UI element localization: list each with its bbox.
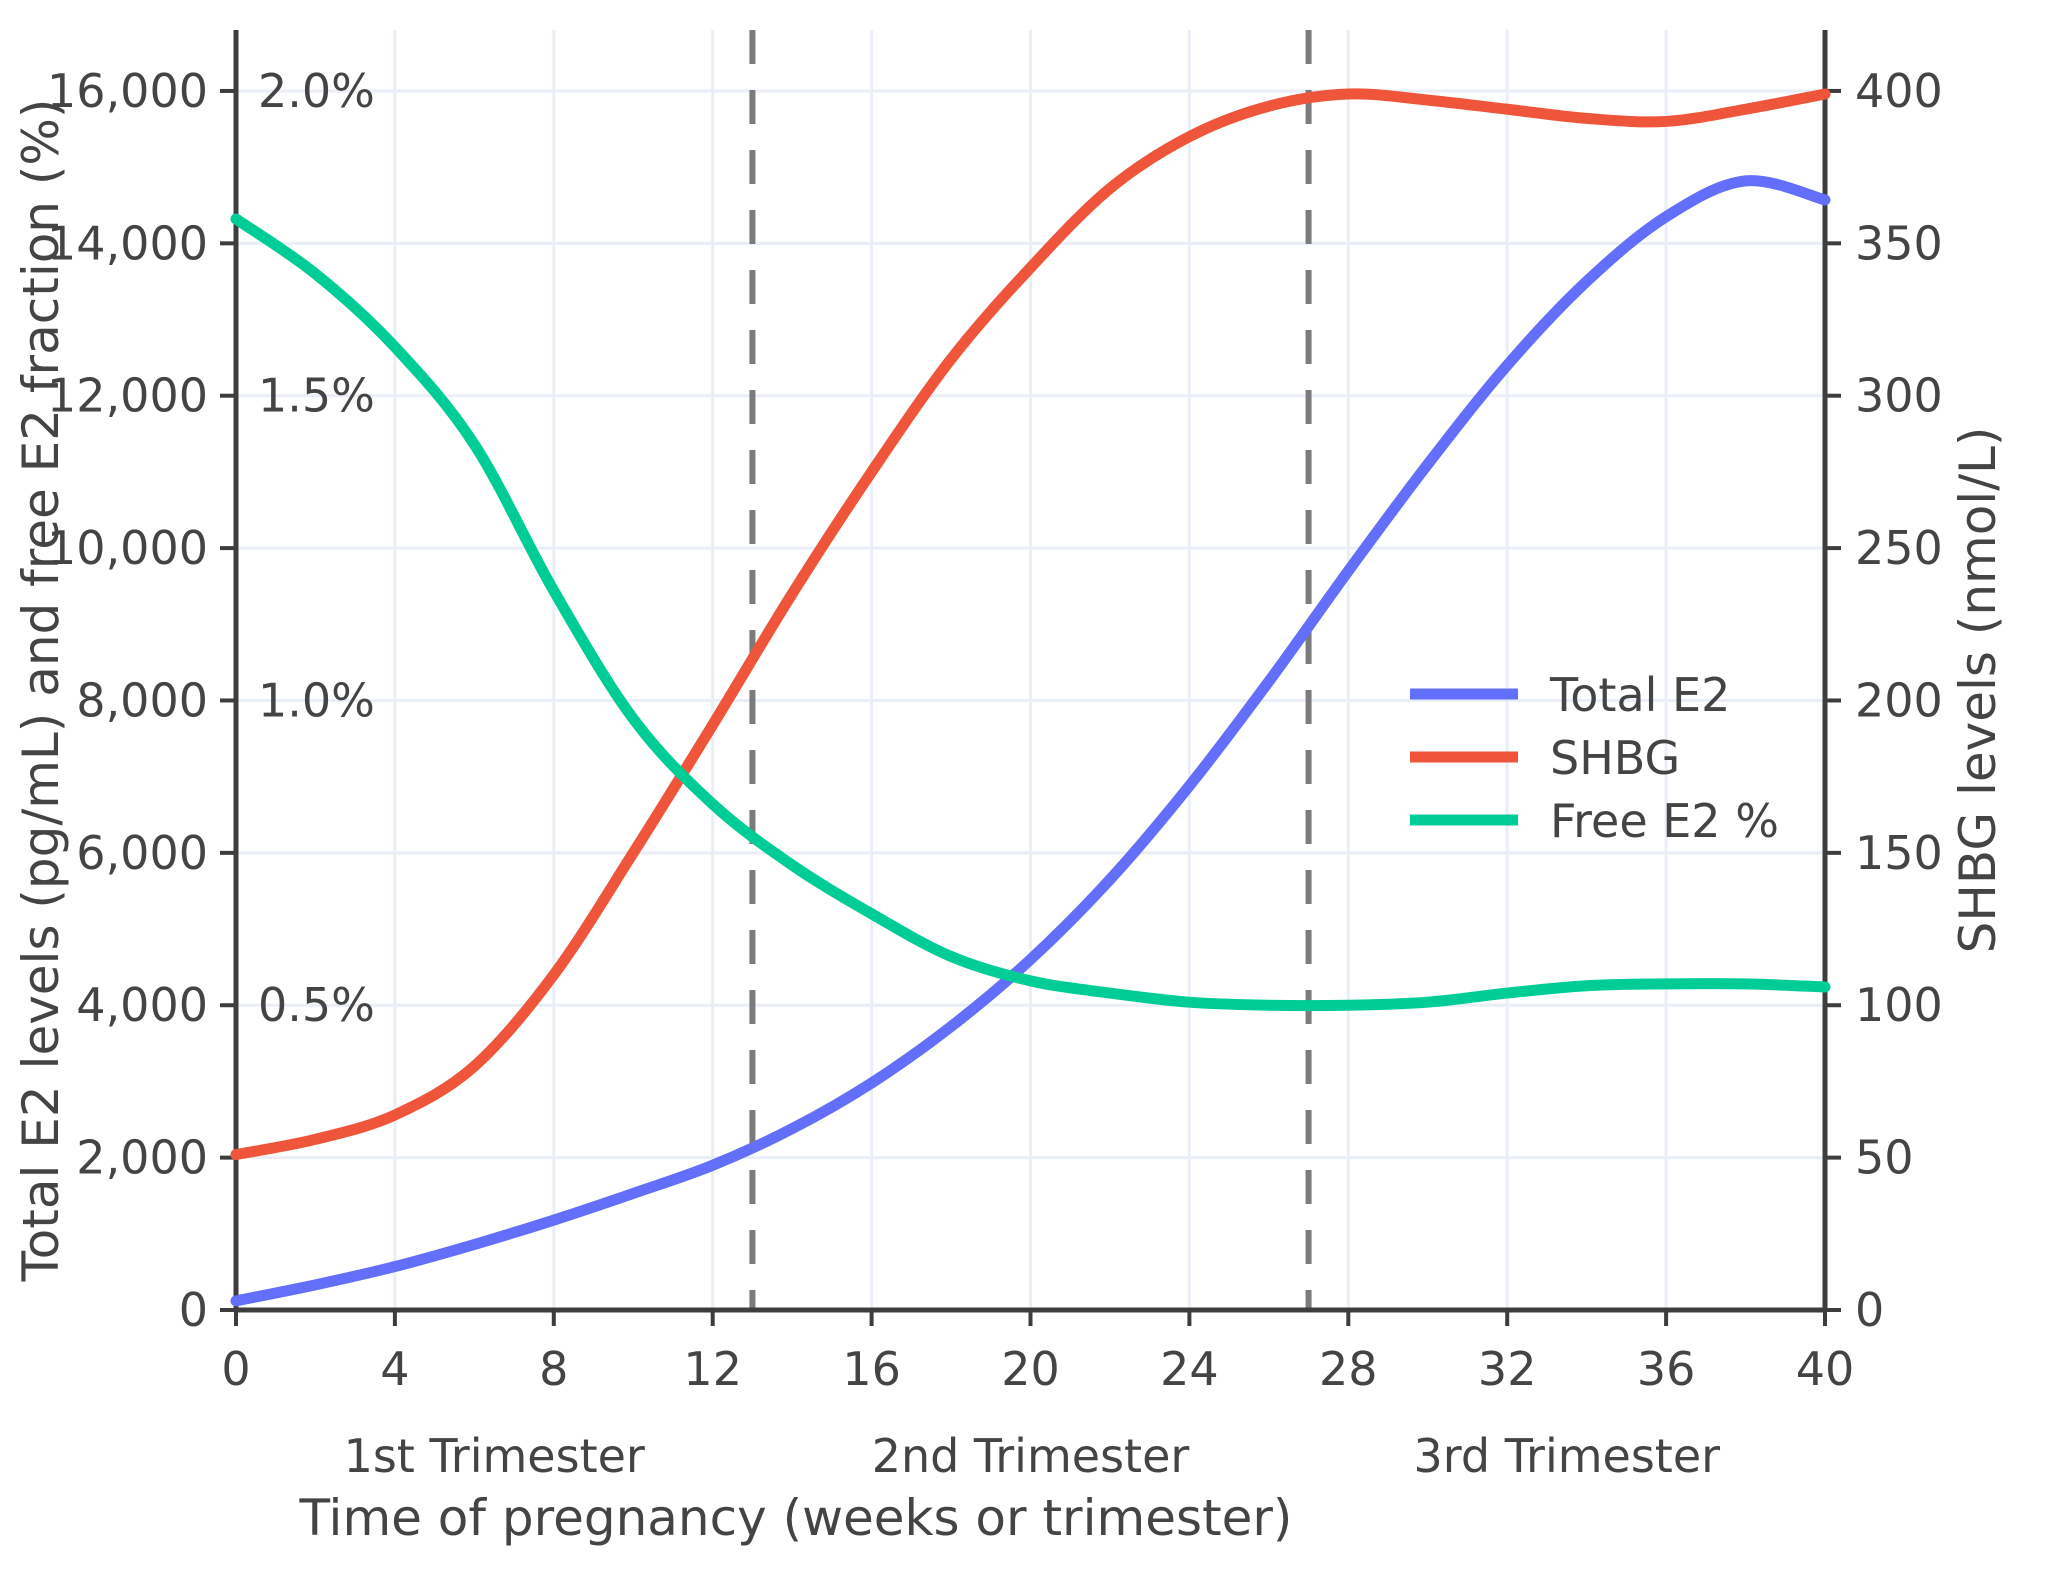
y-axis-left-tick-label: 10,000: [47, 521, 208, 575]
x-axis-title: Time of pregnancy (weeks or trimester): [299, 1489, 1293, 1547]
y-axis-right-tick-label: 350: [1855, 216, 1943, 270]
y-axis-right-tick-label: 100: [1855, 978, 1943, 1032]
y-axis-right-tick-label: 400: [1855, 64, 1943, 118]
y-axis-left-tick-label: 14,000: [47, 216, 208, 270]
percent-tick-label: 1.5%: [258, 369, 375, 423]
y-axis-right-tick-label: 0: [1855, 1283, 1884, 1337]
x-axis-tick-label: 12: [683, 1342, 742, 1396]
x-axis-tick-label: 8: [539, 1342, 568, 1396]
y-axis-left-tick-label: 6,000: [76, 826, 208, 880]
line-chart: 02,0004,0006,0008,00010,00012,00014,0001…: [0, 0, 2048, 1582]
y-axis-left-tick-label: 0: [179, 1283, 208, 1337]
x-axis-tick-label: 24: [1160, 1342, 1219, 1396]
y-axis-right-tick-label: 200: [1855, 673, 1943, 727]
x-axis-tick-label: 36: [1637, 1342, 1696, 1396]
percent-tick-label: 0.5%: [258, 978, 375, 1032]
y-axis-left-tick-label: 8,000: [76, 673, 208, 727]
y-axis-right-tick-labels: 050100150200250300350400: [1855, 64, 1943, 1337]
x-axis-tick-label: 32: [1478, 1342, 1537, 1396]
x-axis-tick-label: 40: [1796, 1342, 1855, 1396]
chart-container: 02,0004,0006,0008,00010,00012,00014,0001…: [0, 0, 2048, 1582]
trimester-label: 1st Trimester: [344, 1429, 645, 1483]
y-axis-left-tick-label: 2,000: [76, 1131, 208, 1185]
trimester-label: 2nd Trimester: [872, 1429, 1190, 1483]
x-axis-tick-label: 20: [1001, 1342, 1060, 1396]
x-axis-tick-label: 0: [221, 1342, 250, 1396]
y-axis-right-tick-label: 300: [1855, 369, 1943, 423]
trimester-labels-group: 1st Trimester2nd Trimester3rd Trimester: [344, 1429, 1721, 1483]
percent-tick-label: 1.0%: [258, 673, 375, 727]
y-axis-right-tick-label: 50: [1855, 1131, 1914, 1185]
y-axis-right-tick-label: 250: [1855, 521, 1943, 575]
legend-label-total-e2[interactable]: Total E2: [1549, 668, 1730, 722]
chart-legend: Total E2SHBGFree E2 %: [1410, 668, 1779, 848]
y-axis-left-tick-label: 16,000: [47, 64, 208, 118]
x-axis-tick-label: 28: [1319, 1342, 1378, 1396]
y-axis-right-title: SHBG levels (nmol/L): [1949, 427, 2007, 954]
y-axis-left-title: Total E2 levels (pg/mL) and free E2 frac…: [12, 99, 70, 1283]
x-axis-tick-label: 16: [842, 1342, 901, 1396]
x-axis-tick-labels: 0481216202428323640: [221, 1342, 1854, 1396]
trimester-label: 3rd Trimester: [1414, 1429, 1721, 1483]
legend-label-free-e2[interactable]: Free E2 %: [1550, 794, 1779, 848]
legend-label-shbg[interactable]: SHBG: [1550, 731, 1680, 785]
y-axis-right-tick-label: 150: [1855, 826, 1943, 880]
percent-tick-label: 2.0%: [258, 64, 375, 118]
y-axis-left-tick-label: 12,000: [47, 369, 208, 423]
x-axis-tick-label: 4: [380, 1342, 409, 1396]
y-axis-left-tick-label: 4,000: [76, 978, 208, 1032]
y-axis-left-tick-labels: 02,0004,0006,0008,00010,00012,00014,0001…: [47, 64, 208, 1337]
